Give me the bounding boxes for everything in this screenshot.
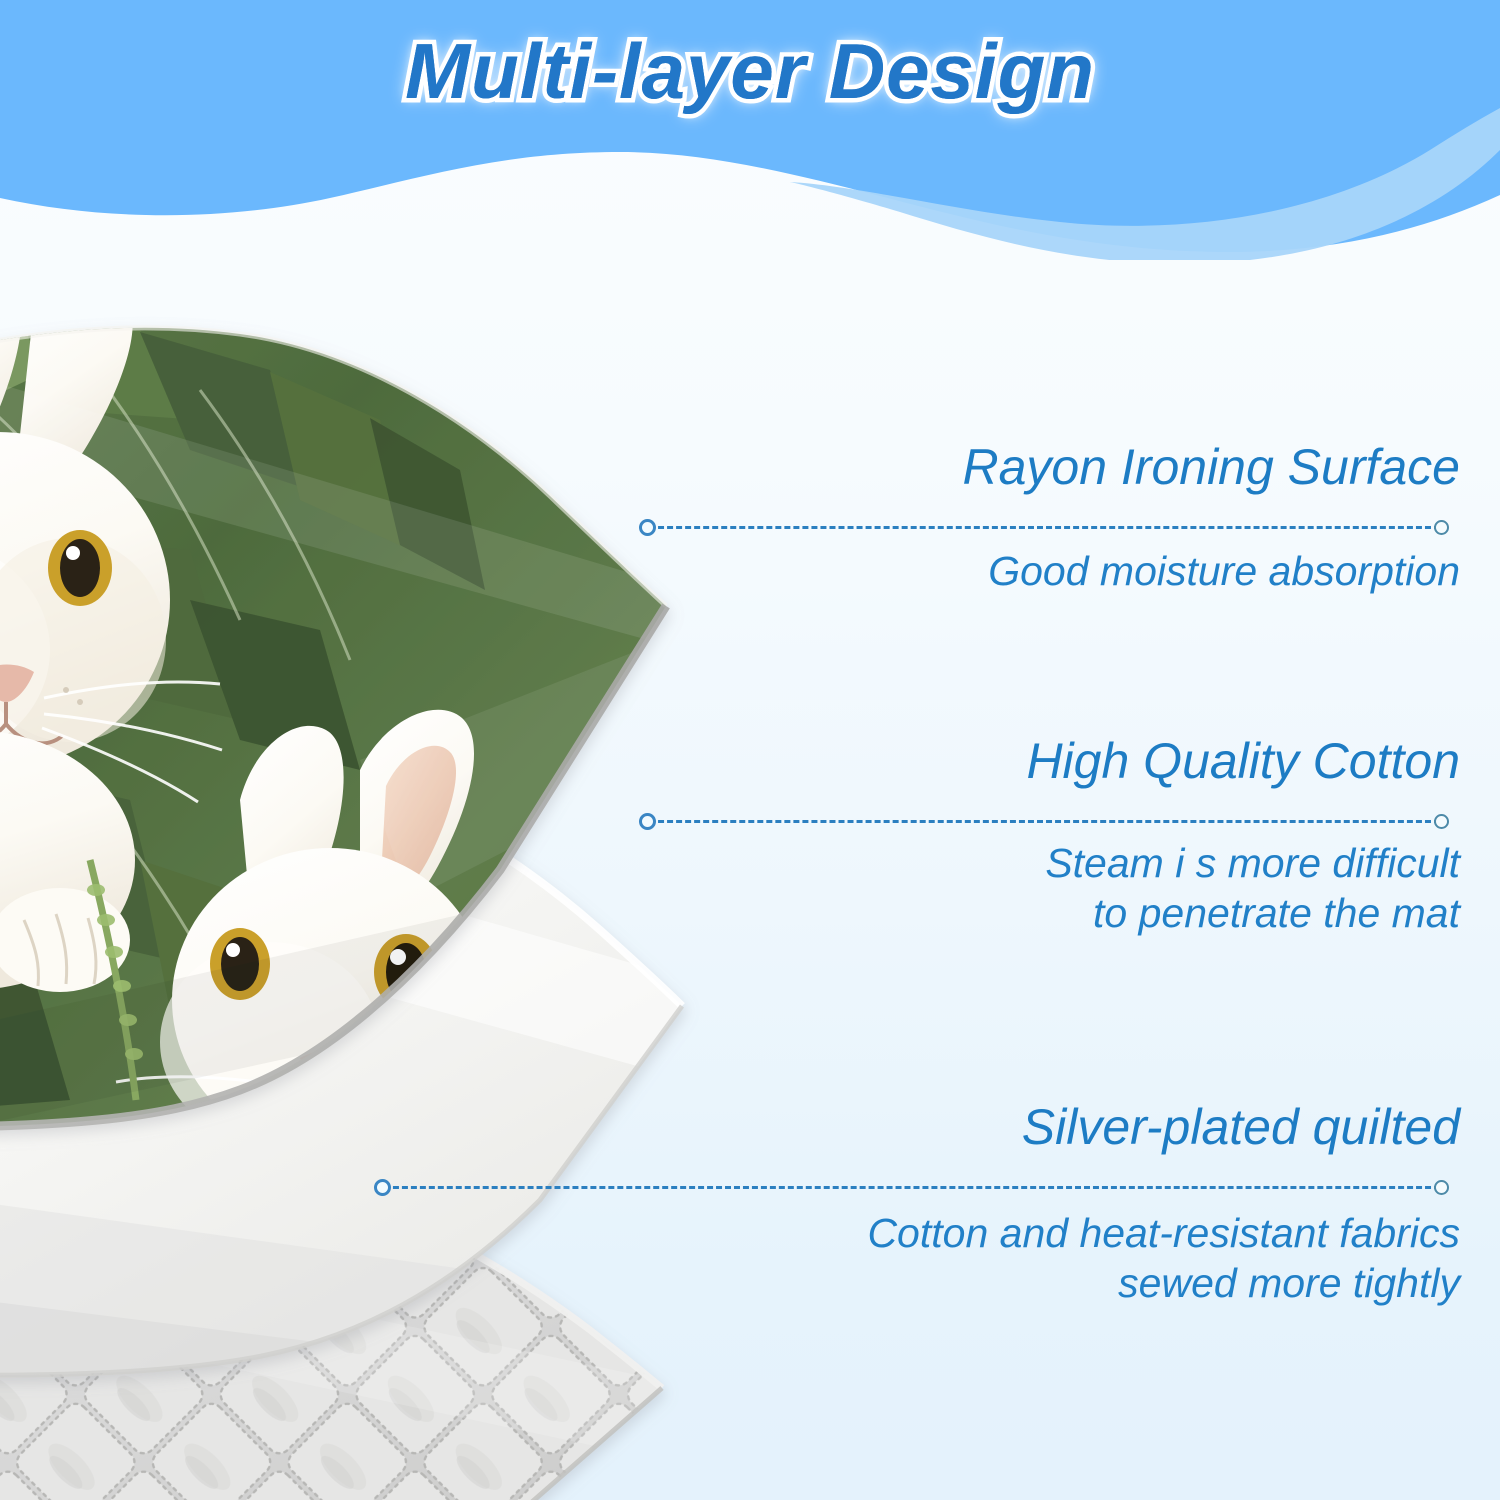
callout-sub-line: sewed more tightly [620,1258,1460,1308]
leader-line-rayon [640,516,1452,538]
page-title: Multi-layer Design [0,26,1500,117]
leader-dash-quilted [375,1186,1440,1189]
callout-sub-line: to penetrate the mat [700,888,1460,938]
rayon-ironing-surface-marker [639,519,656,536]
leader-endpoint-cotton [1434,814,1449,829]
callout-sub-cotton: Steam i s more difficult to penetrate th… [700,838,1460,938]
leader-dash-cotton [640,820,1440,823]
leader-endpoint-rayon [1434,520,1449,535]
leader-line-cotton [640,810,1452,832]
silver-plated-quilted-marker [374,1179,391,1196]
callout-rayon-ironing-surface: Rayon Ironing Surface [700,440,1460,494]
leader-dash-rayon [640,526,1440,529]
callout-silver-plated-quilted: Silver-plated quilted [680,1100,1460,1154]
callout-sub-quilted: Cotton and heat-resistant fabrics sewed … [620,1208,1460,1308]
callout-sub-line: Good moisture absorption [700,546,1460,596]
high-quality-cotton-marker [639,813,656,830]
callout-heading-quilted: Silver-plated quilted [680,1100,1460,1154]
callout-sub-rayon: Good moisture absorption [700,546,1460,596]
callout-high-quality-cotton: High Quality Cotton [700,734,1460,788]
header-banner: Multi-layer Design Multi-layer Design [0,0,1500,260]
callout-cotton-description: Steam i s more difficult to penetrate th… [700,838,1460,938]
callout-rayon-description: Good moisture absorption [700,546,1460,596]
callout-heading-rayon: Rayon Ironing Surface [700,440,1460,494]
callout-sub-line: Steam i s more difficult [700,838,1460,888]
callout-sub-line: Cotton and heat-resistant fabrics [620,1208,1460,1258]
callout-heading-cotton: High Quality Cotton [700,734,1460,788]
leader-endpoint-quilted [1434,1180,1449,1195]
callout-quilted-description: Cotton and heat-resistant fabrics sewed … [620,1208,1460,1308]
leader-line-quilted [375,1176,1452,1198]
